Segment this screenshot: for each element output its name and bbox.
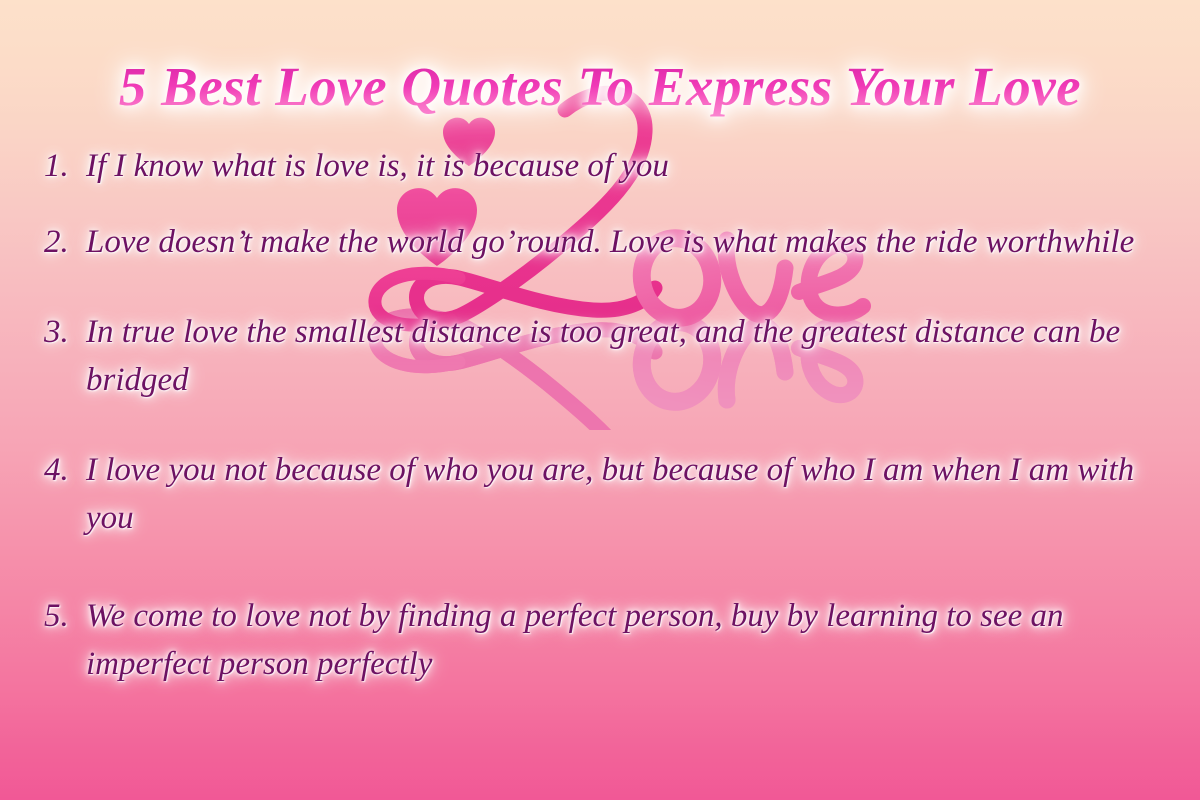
quote-item-1: 1. If I know what is love is, it is beca… — [0, 142, 1200, 190]
quote-text-5: We come to love not by finding a perfect… — [44, 592, 1170, 688]
quote-number-4: 4. — [44, 446, 86, 494]
quote-item-5: 5. We come to love not by finding a perf… — [0, 592, 1200, 688]
quote-number-5: 5. — [44, 592, 86, 640]
quote-text-1: If I know what is love is, it is because… — [44, 142, 1170, 190]
quote-item-4: 4. I love you not because of who you are… — [0, 446, 1200, 542]
quote-number-3: 3. — [44, 308, 86, 356]
quote-text-4: I love you not because of who you are, b… — [44, 446, 1170, 542]
love-quotes-poster: 5 Best Love Quotes To Express Your Love … — [0, 0, 1200, 800]
page-title: 5 Best Love Quotes To Express Your Love — [0, 55, 1200, 119]
quote-text-3: In true love the smallest distance is to… — [44, 308, 1170, 404]
quote-number-1: 1. — [44, 142, 86, 190]
quote-number-2: 2. — [44, 218, 86, 266]
quote-text-2: Love doesn’t make the world go’round. Lo… — [44, 218, 1170, 266]
quotes-list: 1. If I know what is love is, it is beca… — [0, 128, 1200, 688]
quote-item-3: 3. In true love the smallest distance is… — [0, 308, 1200, 404]
quote-item-2: 2. Love doesn’t make the world go’round.… — [0, 218, 1200, 266]
